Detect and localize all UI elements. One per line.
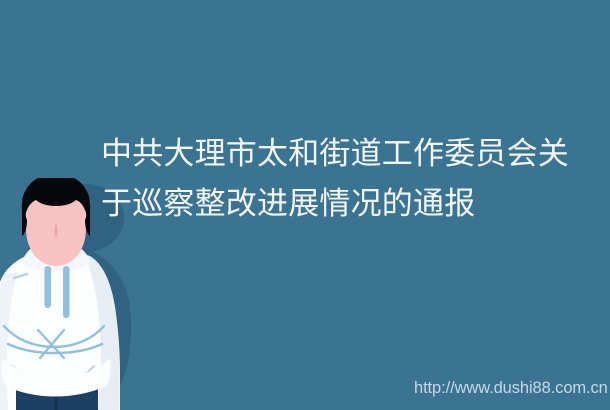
- article-cover-card: 中共大理市太和街道工作委员会关 于巡察整改进展情况的通报 http://www.…: [0, 0, 610, 410]
- title-line-2: 于巡察整改进展情况的通报: [101, 179, 571, 229]
- title-line-1: 中共大理市太和街道工作委员会关: [101, 129, 571, 179]
- page-title: 中共大理市太和街道工作委员会关 于巡察整改进展情况的通报: [101, 129, 571, 229]
- drawstring-right: [63, 266, 70, 318]
- site-url-watermark: http://www.dushi88.com.cn: [414, 379, 608, 398]
- drawstring-left: [45, 266, 52, 308]
